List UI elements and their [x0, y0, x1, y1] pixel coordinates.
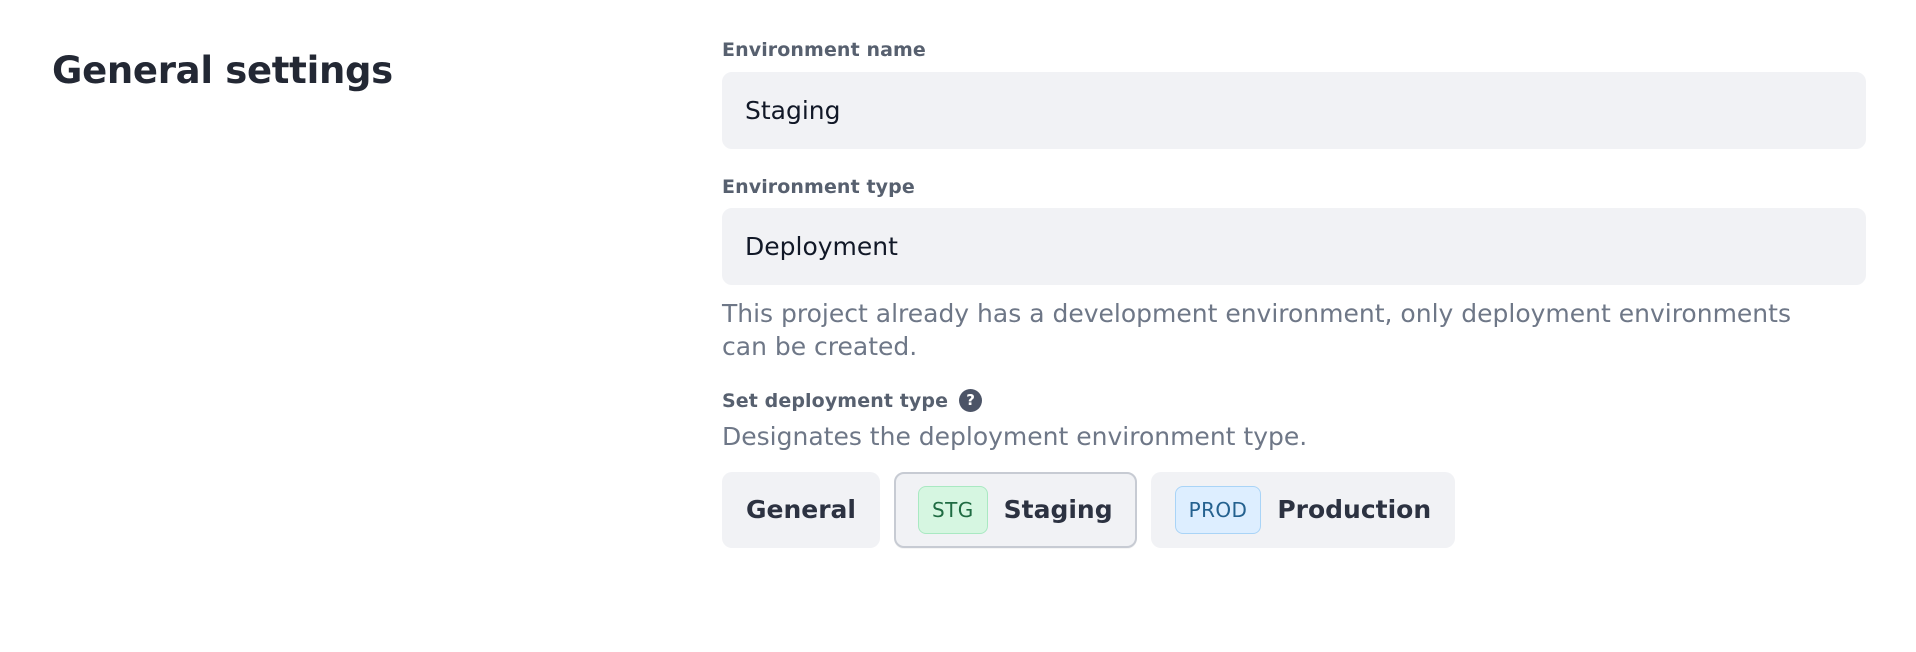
deployment-type-option-production[interactable]: PROD Production	[1151, 472, 1456, 548]
environment-type-value: Deployment	[745, 232, 898, 261]
environment-type-input[interactable]: Deployment	[722, 208, 1866, 285]
deployment-type-option-general-label: General	[746, 495, 856, 524]
deployment-type-option-general[interactable]: General	[722, 472, 880, 548]
environment-type-help-text: This project already has a development e…	[722, 297, 1832, 363]
page-title: General settings	[52, 49, 393, 93]
environment-name-input[interactable]: Staging	[722, 72, 1866, 149]
environment-type-label: Environment type	[722, 175, 1866, 200]
environment-name-value: Staging	[745, 96, 841, 125]
deployment-type-label: Set deployment type	[722, 390, 948, 412]
deployment-type-description: Designates the deployment environment ty…	[722, 421, 1866, 454]
general-settings-page: General settings Environment name Stagin…	[0, 0, 1916, 652]
environment-type-field-group: Environment type Deployment This project…	[722, 175, 1866, 364]
prod-badge: PROD	[1175, 486, 1262, 534]
deployment-type-option-staging[interactable]: STG Staging	[894, 472, 1137, 548]
deployment-type-option-production-label: Production	[1277, 495, 1431, 524]
question-mark-icon[interactable]: ?	[959, 389, 982, 412]
deployment-type-option-staging-label: Staging	[1004, 495, 1113, 524]
deployment-type-label-row: Set deployment type ?	[722, 389, 1866, 412]
environment-name-label: Environment name	[722, 38, 1866, 63]
settings-form: Environment name Staging Environment typ…	[722, 38, 1866, 548]
deployment-type-field-group: Set deployment type ? Designates the dep…	[722, 389, 1866, 548]
environment-name-field-group: Environment name Staging	[722, 38, 1866, 149]
deployment-type-options: General STG Staging PROD Production	[722, 472, 1866, 548]
stg-badge: STG	[918, 486, 988, 534]
